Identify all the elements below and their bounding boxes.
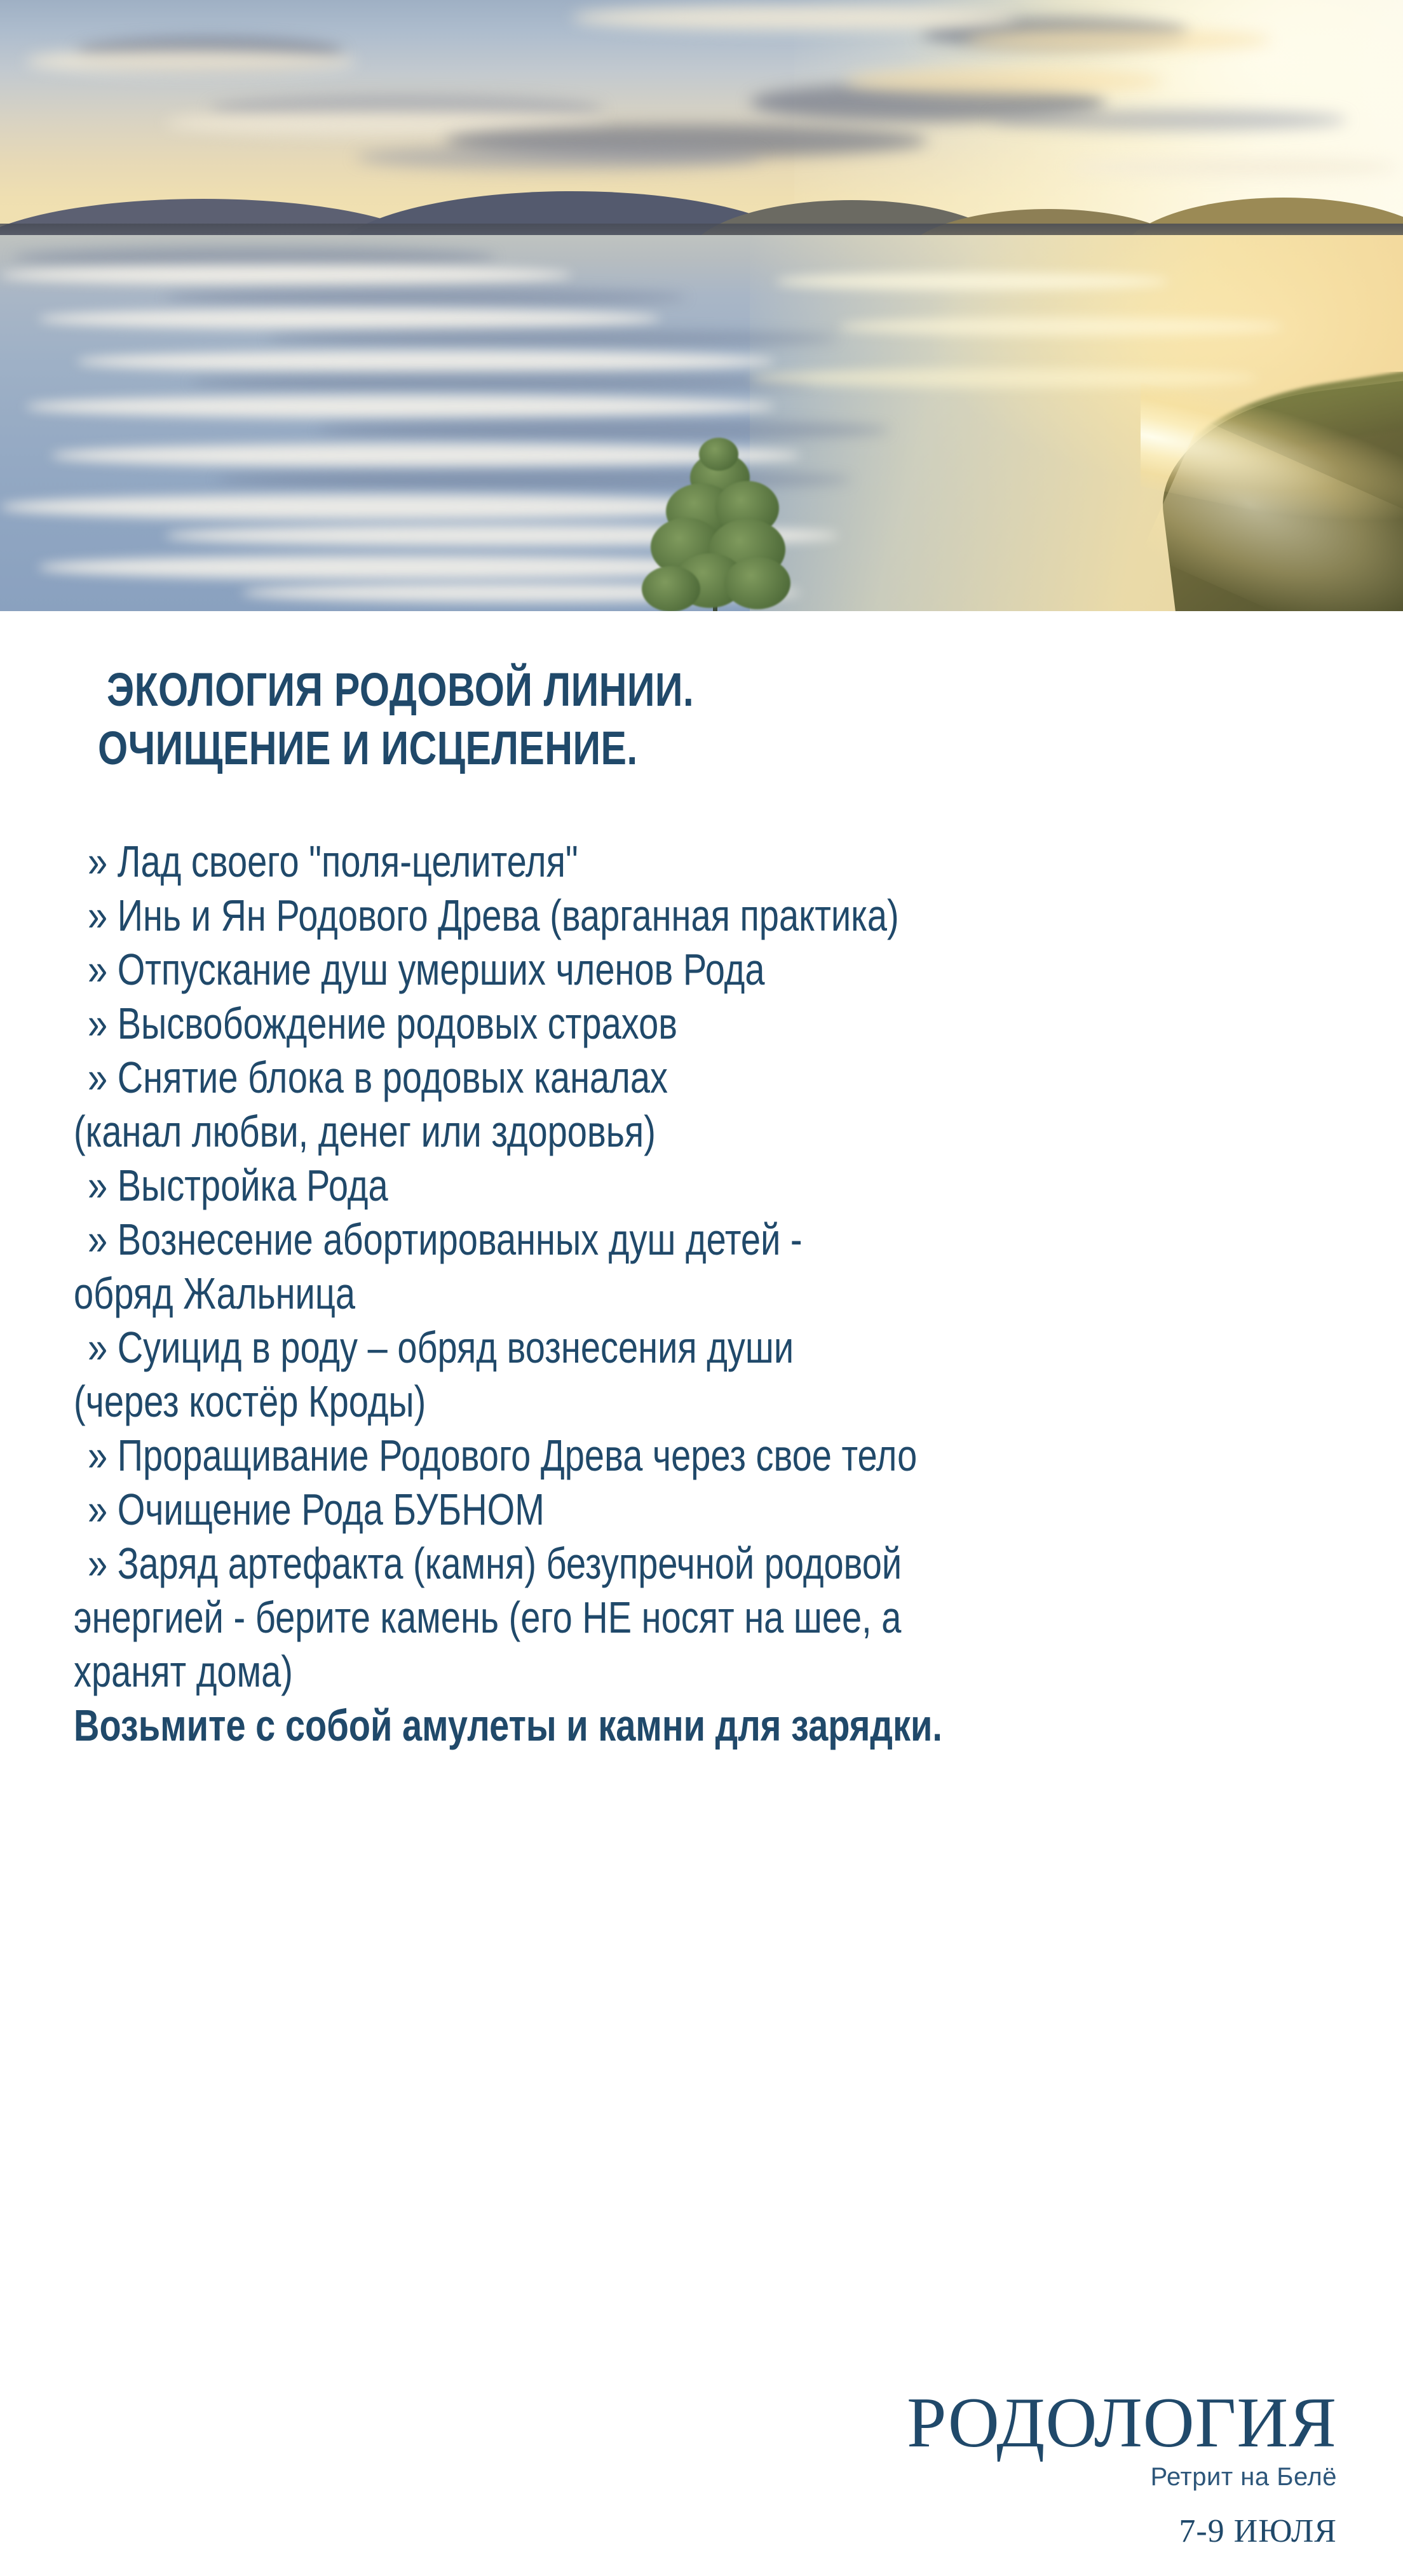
reflected-cloud xyxy=(38,309,661,329)
list-item: » Очищение Рода БУБНОМ xyxy=(88,1483,1109,1537)
cloud-band xyxy=(991,109,1347,131)
reflected-cloud xyxy=(13,246,496,268)
reflected-cloud xyxy=(267,330,839,347)
reflected-cloud xyxy=(191,374,813,391)
brand-name: РОДОЛОГИЯ xyxy=(765,2388,1337,2458)
grassy-cliff xyxy=(1141,372,1403,611)
title-line-2: ОЧИЩЕНИЕ И ИСЦЕЛЕНИЕ. xyxy=(98,719,1095,778)
list-item: » Высвобождение родовых страхов xyxy=(88,997,1109,1051)
cloud-band xyxy=(572,5,1017,30)
list-item: » Суицид в роду – обряд вознесения души xyxy=(88,1321,1109,1375)
reflected-cloud xyxy=(165,288,686,306)
cloud-band xyxy=(966,29,1271,51)
event-dates: 7-9 ИЮЛЯ xyxy=(765,2511,1337,2552)
page-title: ЭКОЛОГИЯ РОДОВОЙ ЛИНИИ. ОЧИЩЕНИЕ И ИСЦЕЛ… xyxy=(107,661,1314,778)
list-item: » Выстройка Рода xyxy=(88,1159,1109,1213)
list-item: » Лад своего "поля-целителя" xyxy=(88,835,1109,889)
list-item: » Инь и Ян Родового Древа (варганная пра… xyxy=(88,889,1109,943)
tree-foliage xyxy=(724,557,790,609)
cloud-band xyxy=(1067,159,1398,175)
program-bullet-list: » Лад своего "поля-целителя" » Инь и Ян … xyxy=(88,835,1365,1753)
content-panel: ЭКОЛОГИЯ РОДОВОЙ ЛИНИИ. ОЧИЩЕНИЕ И ИСЦЕЛ… xyxy=(0,611,1403,2576)
title-line-1: ЭКОЛОГИЯ РОДОВОЙ ЛИНИИ. xyxy=(107,661,1097,719)
cloud-band xyxy=(25,50,356,74)
cloud-band xyxy=(356,145,762,170)
list-item: » Проращивание Родового Древа через свое… xyxy=(88,1429,1109,1483)
tree-foliage xyxy=(642,566,700,611)
reflected-cloud xyxy=(775,273,1169,290)
reflected-cloud xyxy=(25,395,775,418)
hero-photo xyxy=(0,0,1403,611)
reflected-cloud xyxy=(0,266,572,285)
list-item: (через костёр Кроды) xyxy=(74,1375,1107,1429)
list-item: энергией - берите камень (его НЕ носят н… xyxy=(74,1591,1107,1645)
brand-logo: РОДОЛОГИЯ Ретрит на Белё 7-9 ИЮЛЯ xyxy=(765,2388,1337,2552)
list-item: (канал любви, денег или здоровья) xyxy=(74,1105,1107,1159)
tree xyxy=(635,422,801,611)
list-item: » Вознесение абортированных душ детей - xyxy=(88,1213,1109,1267)
list-item: » Заряд артефакта (камня) безупречной ро… xyxy=(88,1537,1109,1591)
reflected-cloud xyxy=(318,421,890,440)
list-item: хранят дома) xyxy=(74,1645,1107,1699)
tree-foliage xyxy=(699,438,738,471)
cloud-band xyxy=(845,69,1163,94)
call-to-action-text: Возьмите с собой амулеты и камни для зар… xyxy=(74,1699,1107,1753)
list-item: » Снятие блока в родовых каналах xyxy=(88,1051,1109,1105)
brand-tagline: Ретрит на Белё xyxy=(765,2459,1337,2495)
reflected-cloud xyxy=(839,318,1284,335)
reflected-cloud xyxy=(76,351,775,372)
list-item: обряд Жальница xyxy=(74,1267,1107,1321)
list-item: » Отпускание душ умерших членов Рода xyxy=(88,943,1109,997)
